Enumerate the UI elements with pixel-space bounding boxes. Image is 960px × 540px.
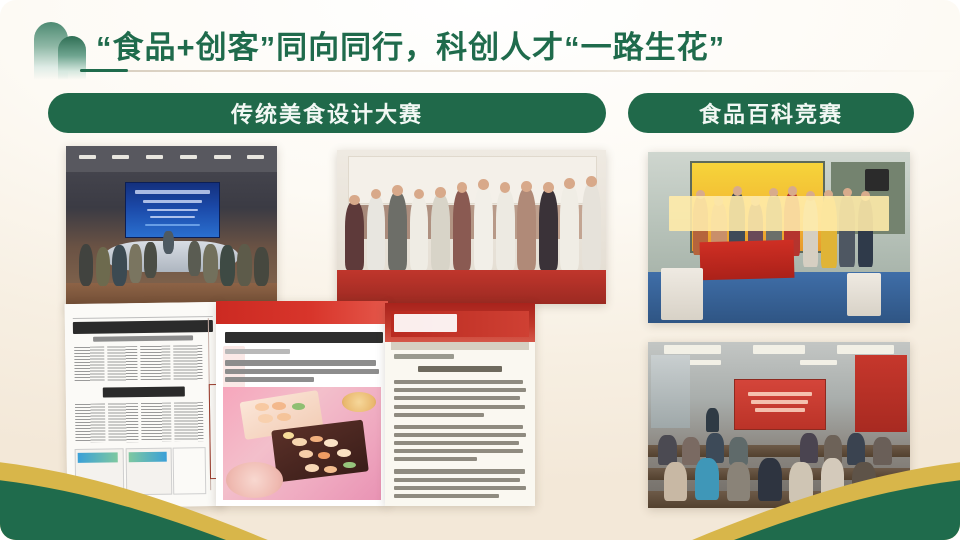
slide-root: “食品+创客”同向同行，科创人才“一路生花” 传统美食设计大赛 食品百科竞赛 bbox=[0, 0, 960, 540]
conference-room-photo bbox=[66, 146, 277, 309]
web-article-clipping bbox=[216, 301, 388, 506]
section-heading-food-encyclopedia-contest: 食品百科竞赛 bbox=[628, 93, 914, 133]
newspaper-page-clipping bbox=[65, 302, 224, 508]
lecture-hall-photo bbox=[648, 342, 910, 508]
page-title: “食品+创客”同向同行，科创人才“一路生花” bbox=[96, 20, 916, 68]
section-heading-traditional-food-design-contest: 传统美食设计大赛 bbox=[48, 93, 606, 133]
zhengzhou-daily-clipping bbox=[385, 303, 535, 506]
title-underline-accent bbox=[80, 69, 128, 72]
classroom-group-photo bbox=[648, 152, 910, 323]
deco-bar-inner bbox=[58, 36, 86, 80]
title-underline bbox=[80, 70, 960, 72]
stage-group-photo bbox=[337, 150, 606, 304]
